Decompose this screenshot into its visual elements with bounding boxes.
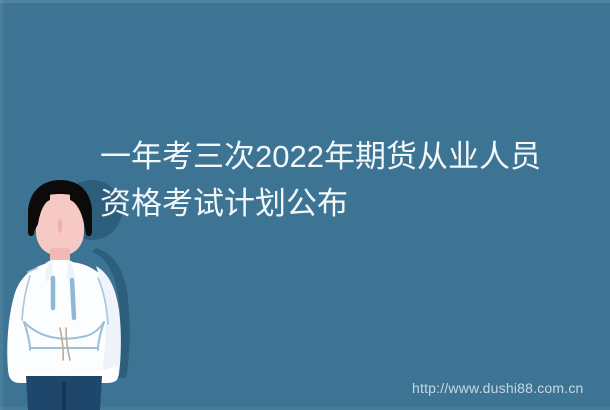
hoodie	[7, 260, 121, 382]
article-cover-banner: 一年考三次2022年期货从业人员资格考试计划公布 http://www.dush…	[0, 0, 610, 410]
watermark-url: http://www.dushi88.com.cn	[412, 379, 584, 397]
pants	[26, 376, 102, 410]
headline-title: 一年考三次2022年期货从业人员资格考试计划公布	[100, 133, 570, 227]
top-edge-highlight	[0, 0, 610, 3]
